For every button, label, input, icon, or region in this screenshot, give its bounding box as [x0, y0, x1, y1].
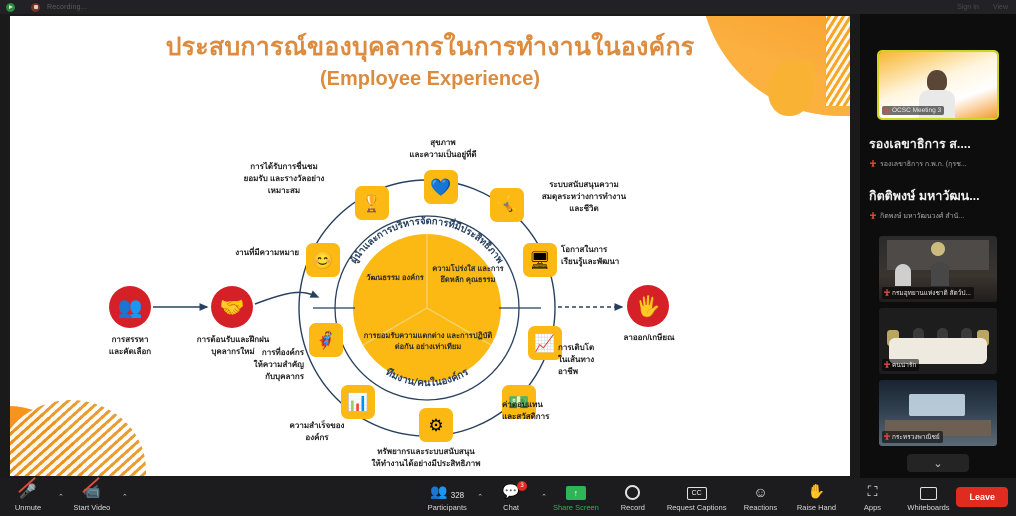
leave-button[interactable]: Leave: [956, 487, 1008, 507]
speaker-name: รองเลขาธิการ ส....: [869, 134, 1009, 154]
node-career-growth-icon[interactable]: 📈: [528, 326, 562, 360]
participants-button[interactable]: 👥328 Participants: [419, 478, 475, 516]
active-speaker-name: OCSC Meeting 3: [882, 106, 944, 115]
people-group-icon: 👥: [118, 295, 143, 320]
stairs-arrow-icon: 📈: [534, 335, 555, 352]
chat-label: Chat: [503, 503, 519, 512]
node-recruit-icon[interactable]: 👥: [109, 286, 151, 328]
reactions-button[interactable]: ☺ Reactions: [732, 478, 788, 516]
node-career-growth-label: การเติบโต ในเส้นทาง อาชีพ: [558, 342, 636, 378]
recording-label: Recording...: [47, 4, 87, 11]
node-people-first-icon[interactable]: 🦸: [309, 323, 343, 357]
record-label: Record: [621, 503, 645, 512]
node-meaningful-work-label: งานที่มีความหมาย: [193, 247, 299, 259]
unmute-button[interactable]: 🎤 Unmute: [0, 478, 56, 516]
start-video-button[interactable]: 📹 Start Video: [64, 478, 120, 516]
unmute-label: Unmute: [15, 503, 41, 512]
participant-thumbnail[interactable]: คนน่ารัก: [879, 308, 997, 374]
node-learning-icon[interactable]: 🖥: [523, 243, 557, 277]
participant-rail: OCSC Meeting 3 รองเลขาธิการ ส.... รองเลข…: [860, 14, 1016, 478]
record-circle-icon: [625, 483, 640, 500]
chat-button[interactable]: 💬 3 Chat: [483, 478, 539, 516]
diagram-connectors: [10, 16, 850, 476]
raise-hand-icon: ✋: [808, 483, 825, 500]
node-org-success-label: ความสำเร็จของ องค์กร: [260, 420, 374, 444]
view-button[interactable]: View: [993, 4, 1008, 11]
participants-group: 👥328 Participants ⌃: [419, 478, 483, 516]
participants-label: Participants: [428, 503, 467, 512]
topbar-right-group: Sign In View: [957, 4, 1016, 11]
bar-chart-icon: 📊: [347, 394, 368, 411]
recording-play-icon[interactable]: [6, 3, 15, 12]
node-work-life-balance-icon[interactable]: 🤸: [490, 188, 524, 222]
zoom-meeting-window: Recording... Sign In View ประสบการณ์ของบ…: [0, 0, 1016, 516]
node-onboard-icon[interactable]: 🤝: [211, 286, 253, 328]
juggling-person-icon: 🤸: [496, 197, 517, 214]
camera-muted-icon: 📹: [83, 483, 100, 500]
request-captions-label: Request Captions: [667, 503, 727, 512]
recording-stop-icon[interactable]: [31, 3, 40, 12]
node-people-first-label: การที่องค์กร ให้ความสำคัญ กับบุคลากร: [206, 347, 304, 383]
node-compensation-label: ค่าตอบแทน และสวัสดิการ: [502, 399, 602, 423]
speaker-row-0[interactable]: รองเลขาธิการ ส.... รองเลขาธิการ ก.พ.ก. (…: [867, 124, 1009, 176]
chevron-down-icon[interactable]: ⌄: [907, 454, 969, 472]
heartbeat-icon: 💙: [430, 179, 451, 196]
start-video-label: Start Video: [73, 503, 110, 512]
waving-hand-icon: 🖐: [636, 294, 661, 319]
node-resources-label: ทรัพยากรและระบบสนับสนุน ให้ทำงานได้อย่าง…: [329, 446, 523, 470]
people-icon: 👥328: [430, 483, 464, 500]
whiteboard-icon: [920, 483, 937, 500]
monitor-learning-icon: 🖥: [529, 252, 551, 269]
participants-count: 328: [451, 491, 464, 500]
unmute-group: 🎤 Unmute ⌃: [0, 478, 64, 516]
whiteboards-button[interactable]: Whiteboards: [900, 478, 956, 516]
node-recognition-label: การได้รับการชื่นชม ยอมรับ และรางวัลอย่าง…: [220, 161, 348, 197]
apps-icon: ⛶: [868, 483, 878, 500]
employee-experience-diagram: วัฒนธรรม องค์กร ความโปร่งใส และการยึดหลั…: [10, 16, 850, 476]
speaker-row-1[interactable]: กิตติพงษ์ มหาวัฒน... กิตพงษ์ มหาวัฒนวงศ์…: [867, 176, 1009, 228]
raise-hand-button[interactable]: ✋ Raise Hand: [788, 478, 844, 516]
node-resources-icon[interactable]: ⚙: [419, 408, 453, 442]
node-meaningful-work-icon[interactable]: 😊: [306, 243, 340, 277]
chat-group: 💬 3 Chat ⌃: [483, 478, 547, 516]
handshake-icon: 🤝: [220, 295, 245, 320]
share-screen-label: Share Screen: [553, 503, 599, 512]
gears-icon: ⚙: [428, 417, 443, 434]
node-learning-label: โอกาสในการ เรียนรู้และพัฒนา: [561, 244, 661, 268]
trophy-icon: 🏆: [361, 195, 382, 212]
thumbnail-name: กระทรวงพาณิชย์: [882, 431, 943, 443]
hero-person-icon: 🦸: [315, 332, 336, 349]
speaker-detail: กิตพงษ์ มหาวัฒนวงศ์ สำนั...: [869, 211, 1009, 222]
smiley-face-icon: 😊: [312, 252, 333, 269]
recording-topbar: Recording... Sign In View: [0, 0, 1016, 14]
share-screen-button[interactable]: ↑ Share Screen: [547, 478, 605, 516]
request-captions-button[interactable]: CC Request Captions: [661, 478, 733, 516]
participant-thumbnail[interactable]: กรมอุทยานแห่งชาติ สัตว์ป...: [879, 236, 997, 302]
node-recognition-icon[interactable]: 🏆: [355, 186, 389, 220]
reactions-icon: ☺: [753, 483, 767, 500]
start-video-group: 📹 Start Video ⌃: [64, 478, 128, 516]
apps-button[interactable]: ⛶ Apps: [844, 478, 900, 516]
active-speaker-tile[interactable]: OCSC Meeting 3: [879, 52, 997, 118]
start-video-caret-icon[interactable]: ⌃: [122, 493, 128, 501]
thumbnail-name: คนน่ารัก: [882, 359, 919, 371]
speaker-detail: รองเลขาธิการ ก.พ.ก. (กุรช...: [869, 159, 1009, 170]
microphone-muted-icon: 🎤: [19, 483, 36, 500]
node-work-life-balance-label: ระบบสนับสนุนความ สมดุลระหว่างการทำงาน แล…: [522, 179, 646, 215]
node-org-success-icon[interactable]: 📊: [341, 385, 375, 419]
chat-badge: 3: [517, 481, 527, 491]
node-wellbeing-label: สุขภาพ และความเป็นอยู่ที่ดี: [391, 137, 495, 161]
raise-hand-label: Raise Hand: [797, 503, 836, 512]
thumbnail-name: กรมอุทยานแห่งชาติ สัตว์ป...: [882, 287, 974, 299]
node-wellbeing-icon[interactable]: 💙: [424, 170, 458, 204]
apps-label: Apps: [864, 503, 881, 512]
closed-captions-icon: CC: [687, 483, 707, 500]
participant-thumbnail[interactable]: กระทรวงพาณิชย์: [879, 380, 997, 446]
share-screen-icon: ↑: [566, 483, 586, 500]
record-button[interactable]: Record: [605, 478, 661, 516]
reactions-label: Reactions: [744, 503, 777, 512]
node-exit-icon[interactable]: 🖐: [627, 285, 669, 327]
sign-in-link[interactable]: Sign In: [957, 4, 979, 11]
speaker-name: กิตติพงษ์ มหาวัฒน...: [869, 186, 1009, 206]
shared-screen-slide[interactable]: ประสบการณ์ของบุคลากรในการทำงานในองค์กร (…: [10, 16, 850, 476]
meeting-toolbar: 🎤 Unmute ⌃ 📹 Start Video ⌃ 👥328 Particip…: [0, 478, 1016, 516]
whiteboards-label: Whiteboards: [907, 503, 949, 512]
